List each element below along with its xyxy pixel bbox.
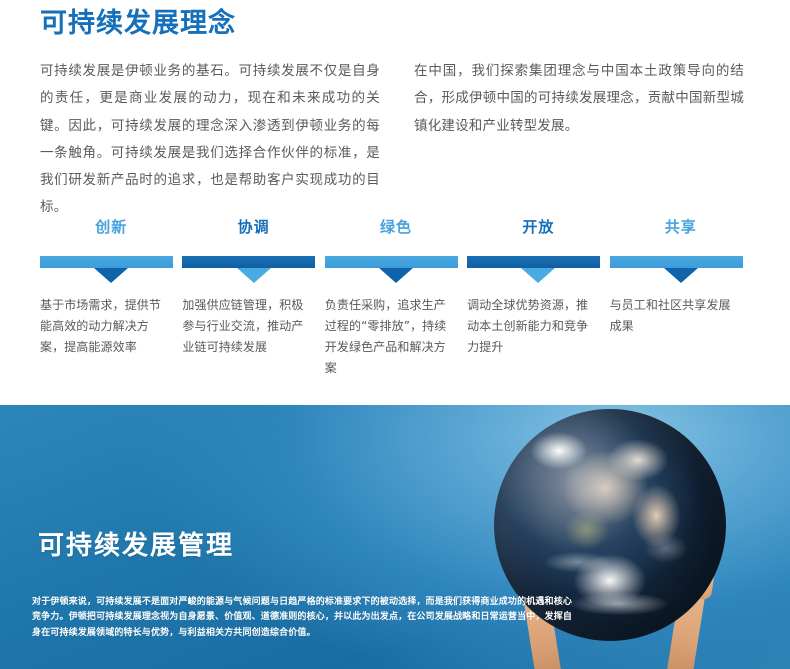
banner-body-text: 对于伊顿来说，可持续发展不是面对严峻的能源与气候问题与日趋严格的标准要求下的被动… [32,595,572,641]
pillar-sharing: 共享 与员工和社区共享发展成果 [610,218,752,379]
pillar-bar [40,256,173,268]
pillar-openness: 开放 调动全球优势资源，推动本土创新能力和竞争力提升 [467,218,609,379]
pillar-heading: 开放 [467,218,609,240]
pillar-heading: 共享 [610,218,752,240]
page-root: 可持续发展理念 可持续发展是伊顿业务的基石。可持续发展不仅是自身的责任，更是商业… [0,0,790,669]
pillar-bar [182,256,315,268]
chevron-down-icon [521,268,555,283]
chevron-down-icon [379,268,413,283]
pillar-bar [467,256,600,268]
intro-column-left: 可持续发展是伊顿业务的基石。可持续发展不仅是自身的责任，更是商业发展的动力，现在… [40,58,380,222]
pillar-green: 绿色 负责任采购，追求生产过程的“零排放”，持续开发绿色产品和解决方案 [325,218,467,379]
pillar-heading: 创新 [40,218,182,240]
pillar-description: 调动全球优势资源，推动本土创新能力和竞争力提升 [467,295,591,358]
chevron-down-icon [237,268,271,283]
pillar-heading: 绿色 [325,218,467,240]
pillars-row: 创新 基于市场需求，提供节能高效的动力解决方案，提高能源效率 协调 加强供应链管… [40,218,752,379]
pillar-description: 负责任采购，追求生产过程的“零排放”，持续开发绿色产品和解决方案 [325,295,449,379]
chevron-down-icon [664,268,698,283]
pillar-heading: 协调 [182,218,324,240]
pillar-description: 基于市场需求，提供节能高效的动力解决方案，提高能源效率 [40,295,164,358]
pillar-bar [325,256,458,268]
pillar-coordination: 协调 加强供应链管理，积极参与行业交流，推动产业链可持续发展 [182,218,324,379]
intro-paragraph-left: 可持续发展是伊顿业务的基石。可持续发展不仅是自身的责任，更是商业发展的动力，现在… [40,58,380,222]
chevron-down-icon [94,268,128,283]
intro-paragraph-right: 在中国，我们探索集团理念与中国本土政策导向的结合，形成伊顿中国的可持续发展理念，… [414,58,744,140]
pillar-description: 加强供应链管理，积极参与行业交流，推动产业链可持续发展 [182,295,306,358]
pillar-description: 与员工和社区共享发展成果 [610,295,734,337]
pillar-bar [610,256,743,268]
page-title: 可持续发展理念 [40,6,236,41]
sustainability-management-banner: 可持续发展管理 对于伊顿来说，可持续发展不是面对严峻的能源与气候问题与日趋严格的… [0,405,790,669]
pillar-innovation: 创新 基于市场需求，提供节能高效的动力解决方案，提高能源效率 [40,218,182,379]
intro-column-right: 在中国，我们探索集团理念与中国本土政策导向的结合，形成伊顿中国的可持续发展理念，… [414,58,754,222]
intro-columns: 可持续发展是伊顿业务的基石。可持续发展不仅是自身的责任，更是商业发展的动力，现在… [40,58,755,222]
banner-title: 可持续发展管理 [38,525,234,562]
